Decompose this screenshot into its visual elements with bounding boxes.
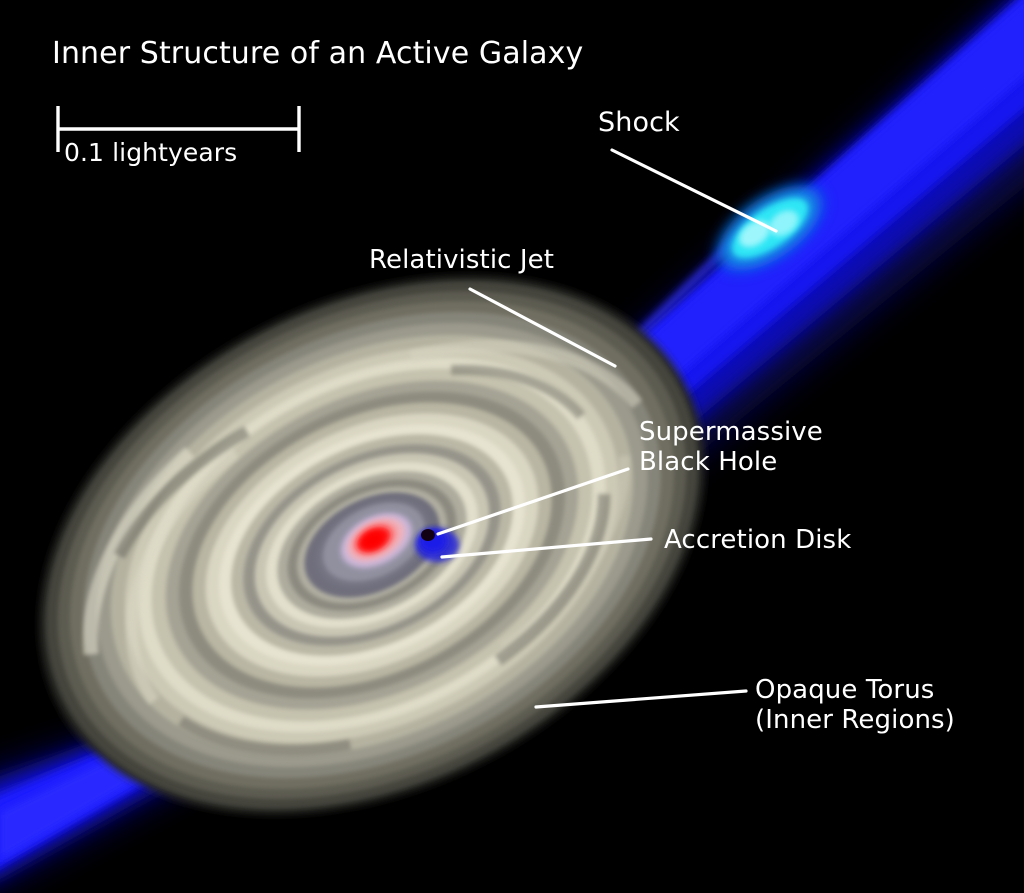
- label-shock: Shock: [598, 107, 680, 138]
- label-supermassive-black-hole: SupermassiveBlack Hole: [639, 417, 823, 477]
- label-torus-line2: (Inner Regions): [755, 705, 955, 735]
- active-galaxy-illustration: [0, 0, 1024, 893]
- diagram-canvas: Inner Structure of an Active Galaxy 0.1 …: [0, 0, 1024, 893]
- scale-bar-label: 0.1 lightyears: [64, 138, 237, 167]
- page-title: Inner Structure of an Active Galaxy: [52, 37, 583, 72]
- supermassive-black-hole-point: [421, 529, 435, 541]
- label-opaque-torus: Opaque Torus(Inner Regions): [755, 675, 955, 735]
- label-torus-line1: Opaque Torus: [755, 675, 934, 705]
- label-smbh-line1: Supermassive: [639, 417, 823, 447]
- label-accretion-disk: Accretion Disk: [664, 525, 851, 555]
- label-smbh-line2: Black Hole: [639, 447, 777, 477]
- label-relativistic-jet: Relativistic Jet: [369, 245, 554, 275]
